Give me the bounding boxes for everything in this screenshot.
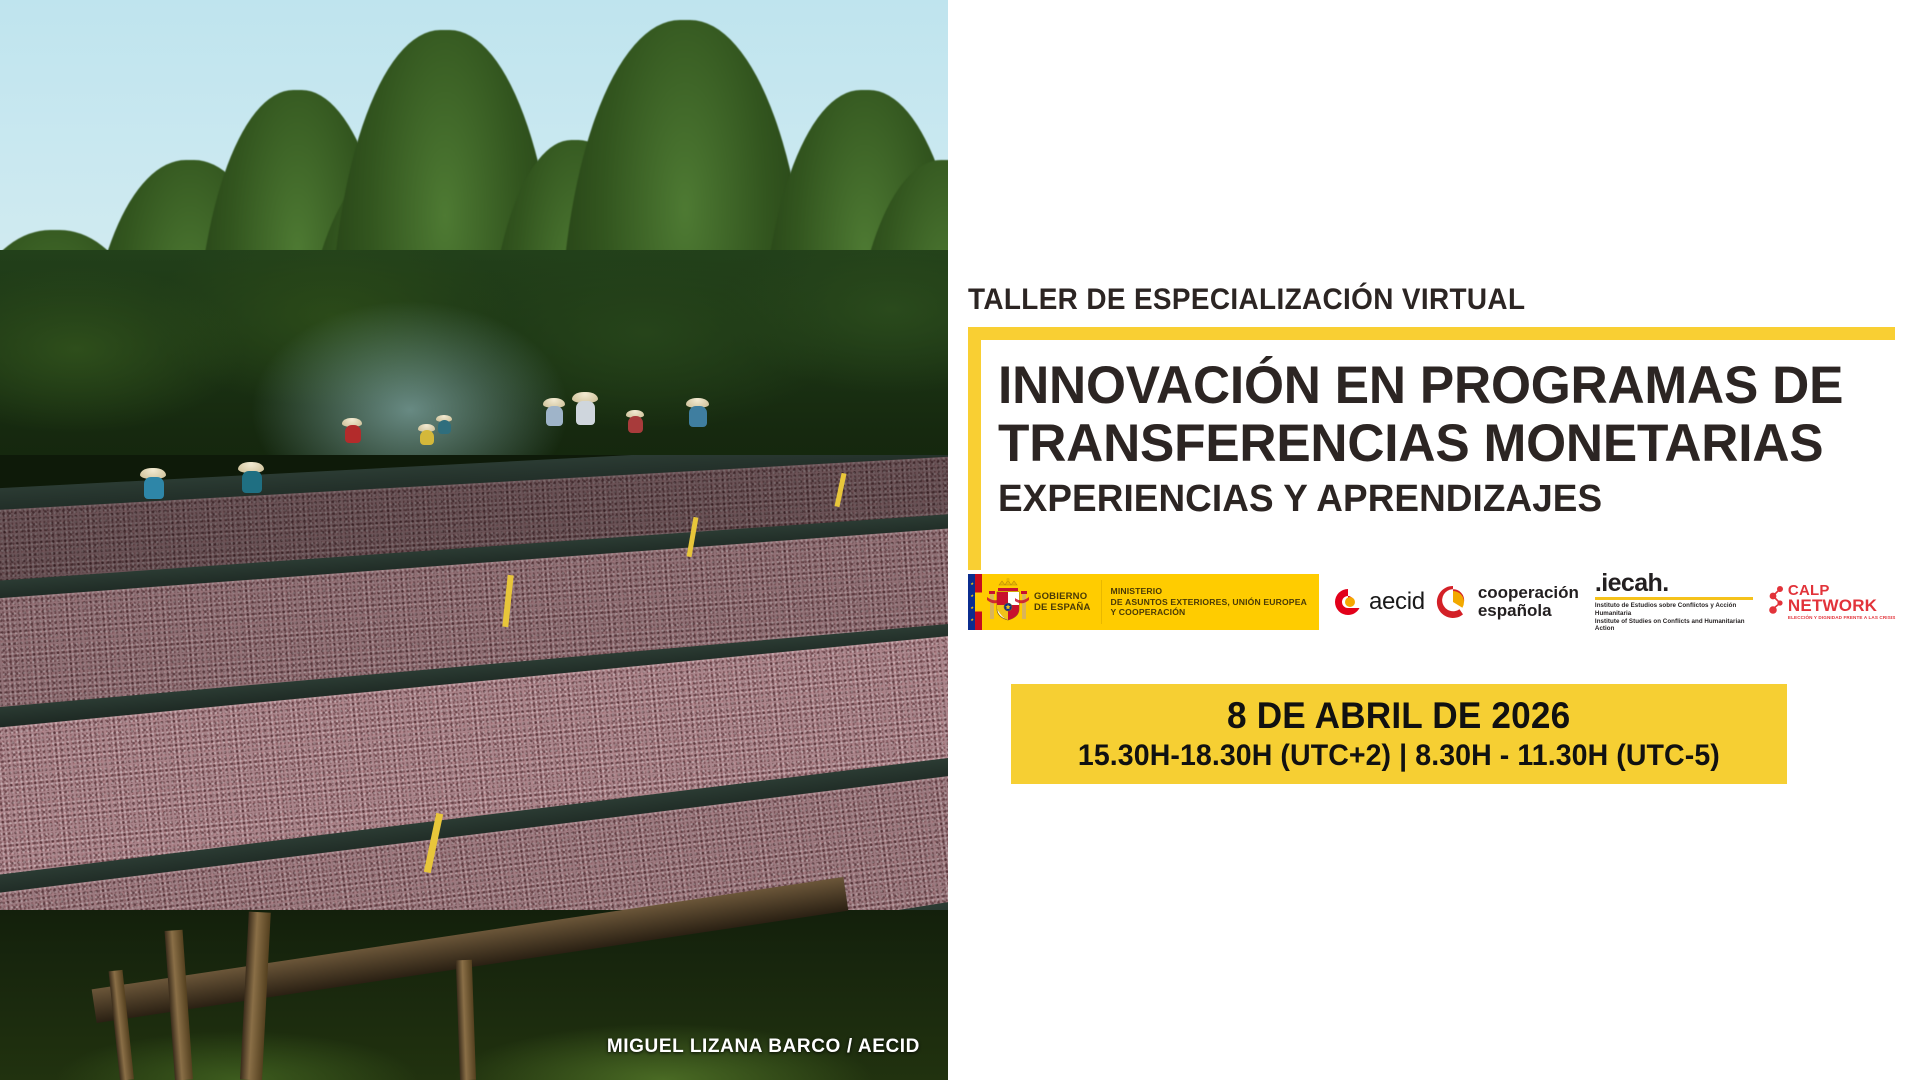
cooperacion-wordmark: cooperación española xyxy=(1478,584,1579,620)
accent-rule-left xyxy=(968,340,981,570)
gobierno-de-espana-logo: ★★★★ xyxy=(968,574,1319,630)
aecid-logo: aecid xyxy=(1333,587,1425,617)
iecah-subtitle-en: Institute of Studies on Conflicts and Hu… xyxy=(1595,618,1755,633)
worker-torso xyxy=(689,406,707,427)
cooperacion-espanola-logo: cooperación española xyxy=(1435,584,1579,620)
gobierno-line-2: DE ESPAÑA xyxy=(1034,602,1091,613)
title-line-1: INNOVACIÓN EN PROGRAMAS DE xyxy=(998,357,1871,415)
kicker-label: TALLER DE ESPECIALIZACIÓN VIRTUAL xyxy=(968,283,1525,317)
event-poster: MIGUEL LIZANA BARCO / AECID TALLER DE ES… xyxy=(0,0,1920,1080)
calp-nodes-icon xyxy=(1769,585,1785,619)
worker-torso xyxy=(345,425,361,443)
ministerio-line-3: Y COOPERACIÓN xyxy=(1111,607,1307,617)
info-panel: TALLER DE ESPECIALIZACIÓN VIRTUAL INNOVA… xyxy=(948,0,1920,1080)
flag-strip-icon: ★★★★ xyxy=(968,574,982,630)
calp-line-2: NETWORK xyxy=(1788,598,1896,614)
title-line-2: TRANSFERENCIAS MONETARIAS xyxy=(998,415,1871,473)
divider xyxy=(1101,580,1102,624)
calp-tagline: ELECCIÓN Y DIGNIDAD FRENTE A LAS CRISIS xyxy=(1788,615,1896,620)
worker-torso xyxy=(438,420,451,434)
worker-torso xyxy=(576,401,595,425)
logo-strip: ★★★★ xyxy=(968,570,1908,634)
worker-torso xyxy=(144,477,164,499)
event-time: 15.30H-18.30H (UTC+2) | 8.30H - 11.30H (… xyxy=(1078,739,1720,773)
aecid-wordmark: aecid xyxy=(1369,588,1425,616)
gobierno-wordmark: GOBIERNO DE ESPAÑA xyxy=(1034,574,1101,630)
calp-network-logo: CALP NETWORK ELECCIÓN Y DIGNIDAD FRENTE … xyxy=(1769,584,1896,620)
iecah-wordmark: .iecah. xyxy=(1595,571,1755,595)
iecah-rule xyxy=(1595,597,1753,600)
page-title: INNOVACIÓN EN PROGRAMAS DE TRANSFERENCIA… xyxy=(998,357,1898,525)
ministerio-wordmark: MINISTERIO DE ASUNTOS EXTERIORES, UNIÓN … xyxy=(1111,574,1319,630)
iecah-subtitle-es: Instituto de Estudios sobre Conflictos y… xyxy=(1595,602,1755,617)
eu-flag-icon: ★★★★ xyxy=(968,574,975,630)
coffee-drying-beds xyxy=(0,455,948,1080)
event-date: 8 DE ABRIL DE 2026 xyxy=(1227,695,1570,737)
title-subtitle: EXPERIENCIAS Y APRENDIZAJES xyxy=(998,473,1871,525)
event-datetime-banner: 8 DE ABRIL DE 2026 15.30H-18.30H (UTC+2)… xyxy=(1011,684,1787,784)
aecid-mark-icon xyxy=(1333,587,1363,617)
worker-torso xyxy=(546,406,563,426)
accent-rule-top xyxy=(968,327,1895,340)
ministerio-line-2: DE ASUNTOS EXTERIORES, UNIÓN EUROPEA xyxy=(1111,597,1307,607)
cooperacion-e-mark-icon xyxy=(1435,584,1471,620)
ministerio-line-1: MINISTERIO xyxy=(1111,586,1307,596)
iecah-logo: .iecah. Instituto de Estudios sobre Conf… xyxy=(1595,571,1755,632)
hero-photograph: MIGUEL LIZANA BARCO / AECID xyxy=(0,0,948,1080)
photo-credit: MIGUEL LIZANA BARCO / AECID xyxy=(607,1036,920,1058)
spain-flag-icon xyxy=(975,574,982,630)
cooperacion-line-2: española xyxy=(1478,601,1552,620)
cooperacion-line-1: cooperación xyxy=(1478,583,1579,602)
worker-torso xyxy=(420,430,434,445)
worker-torso xyxy=(628,416,643,433)
spanish-coat-of-arms-icon xyxy=(982,574,1034,630)
calp-wordmark: CALP NETWORK ELECCIÓN Y DIGNIDAD FRENTE … xyxy=(1788,584,1896,620)
worker-torso xyxy=(242,471,262,493)
gobierno-line-1: GOBIERNO xyxy=(1034,591,1091,602)
